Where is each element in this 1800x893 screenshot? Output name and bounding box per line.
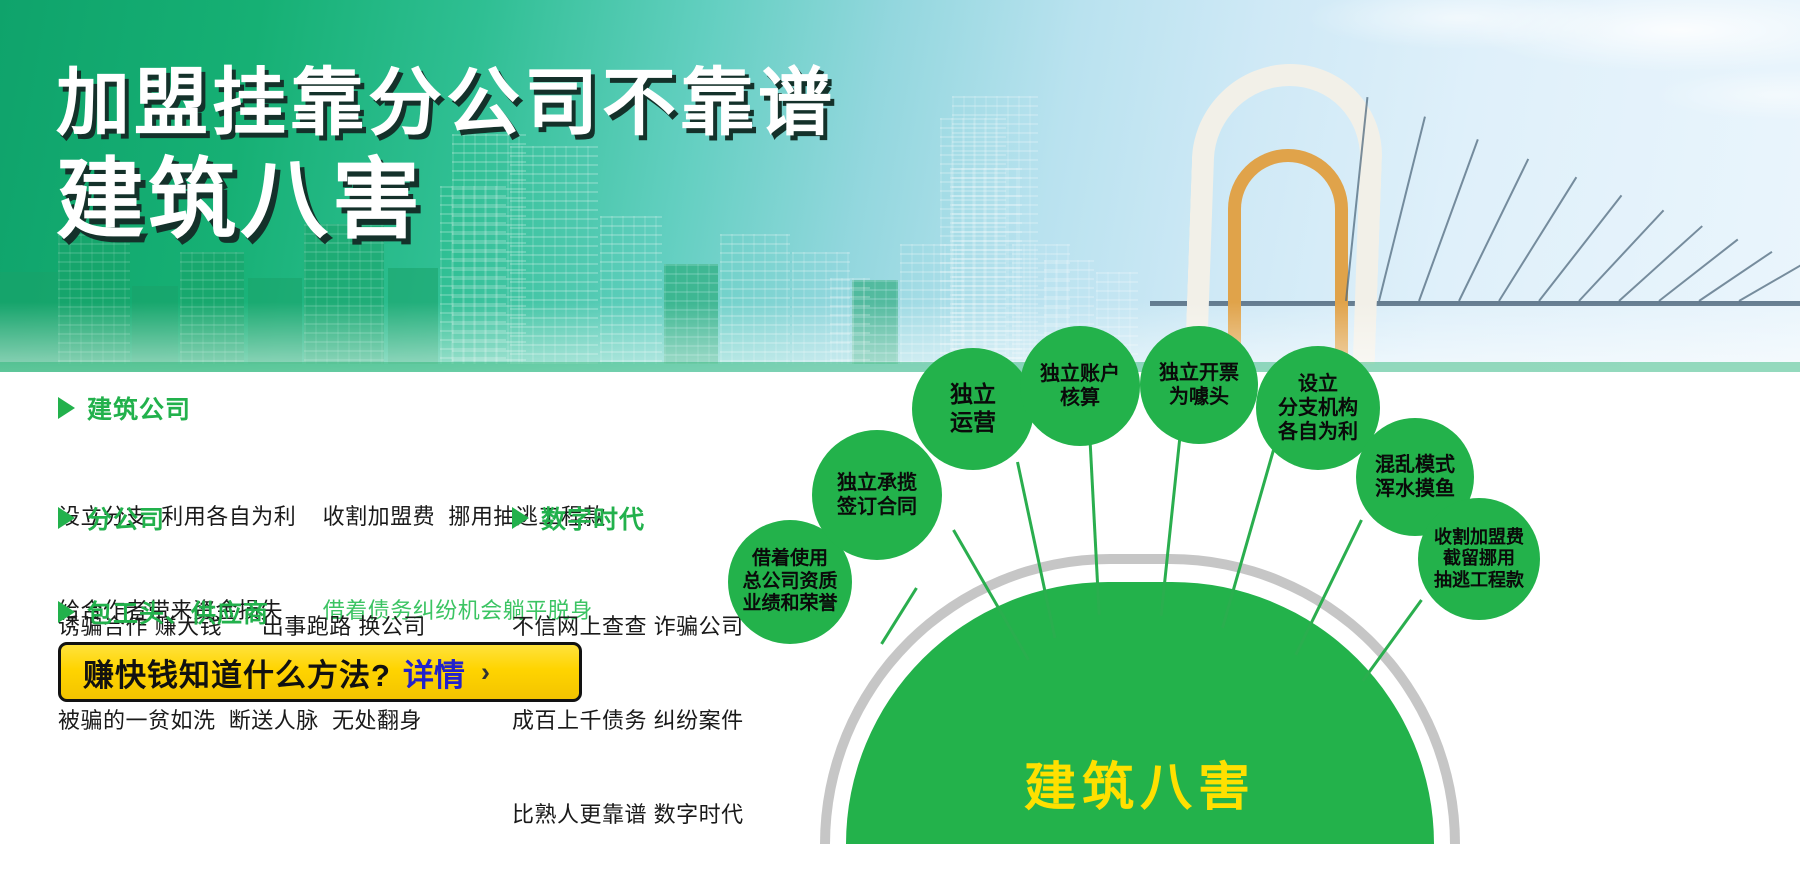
bubble-label: 独立 运营	[950, 381, 996, 436]
dome-center-label: 建筑八害	[846, 745, 1434, 820]
cta-label: 赚快钱知道什么方法?	[83, 650, 391, 695]
section-title: 数字时代	[541, 500, 645, 536]
hero-headline: 加盟挂靠分公司不靠谱 建筑八害	[56, 62, 836, 250]
section-body-line-2: 成百上千债务 纠纷案件	[512, 705, 812, 736]
headline-line-1: 加盟挂靠分公司不靠谱	[56, 62, 836, 145]
section-title: 包工头、供应商	[87, 594, 269, 630]
bubble-label: 独立承揽 签订合同	[837, 471, 917, 519]
bubble-independent-operation[interactable]: 独立 运营	[912, 348, 1034, 470]
bubble-label: 借着使用 总公司资质 业绩和荣誉	[742, 548, 837, 616]
bubble-label: 混乱模式 浑水摸鱼	[1375, 453, 1455, 501]
section-heading: 分公司	[58, 500, 488, 536]
bubble-independent-contract[interactable]: 独立承揽 签订合同	[812, 430, 942, 560]
poster-root: 加盟挂靠分公司不靠谱 建筑八害 建筑公司 设立分支 利用各自为利 收割加盟费 挪…	[0, 0, 1800, 844]
bubble-label: 设立 分支机构 各自为利	[1278, 372, 1358, 444]
bubble-independent-invoice[interactable]: 独立开票 为噱头	[1140, 326, 1258, 444]
section-heading: 建筑公司	[58, 390, 678, 426]
cta-button[interactable]: 赚快钱知道什么方法? 详情 ›	[58, 642, 582, 702]
section-title: 分公司	[87, 500, 165, 536]
triangle-bullet-icon	[58, 507, 75, 529]
bubble-label: 独立账户 核算	[1040, 362, 1120, 410]
section-heading: 包工头、供应商	[58, 594, 578, 630]
mindmap-diagram: 建筑八害 借着使用 总公司资质 业绩和荣誉 独立承揽 签订合同 独立 运营 独立…	[820, 330, 1800, 844]
bubble-label: 独立开票 为噱头	[1159, 361, 1239, 409]
triangle-bullet-icon	[58, 397, 75, 419]
triangle-bullet-icon	[58, 601, 75, 623]
section-body-line-3: 比熟人更靠谱 数字时代	[512, 799, 812, 830]
cta-detail-link[interactable]: 详情	[403, 650, 465, 695]
bubble-independent-account[interactable]: 独立账户 核算	[1020, 326, 1140, 446]
chevron-right-icon: ›	[481, 657, 490, 688]
left-content-panel: 建筑公司 设立分支 利用各自为利 收割加盟费 挪用抽逃工程款 给合作者带来资金损…	[0, 372, 840, 844]
section-body-line-1: 被骗的一贫如洗 断送人脉 无处翻身	[58, 705, 578, 736]
section-title: 建筑公司	[87, 390, 191, 426]
hero-banner: 加盟挂靠分公司不靠谱 建筑八害	[0, 0, 1800, 372]
headline-line-2: 建筑八害	[56, 149, 836, 250]
center-dome: 建筑八害	[820, 554, 1460, 844]
triangle-bullet-icon	[512, 507, 529, 529]
bubble-label: 收割加盟费 截留挪用 抽逃工程款	[1434, 527, 1524, 592]
bubble-harvest-fee[interactable]: 收割加盟费 截留挪用 抽逃工程款	[1418, 498, 1540, 620]
